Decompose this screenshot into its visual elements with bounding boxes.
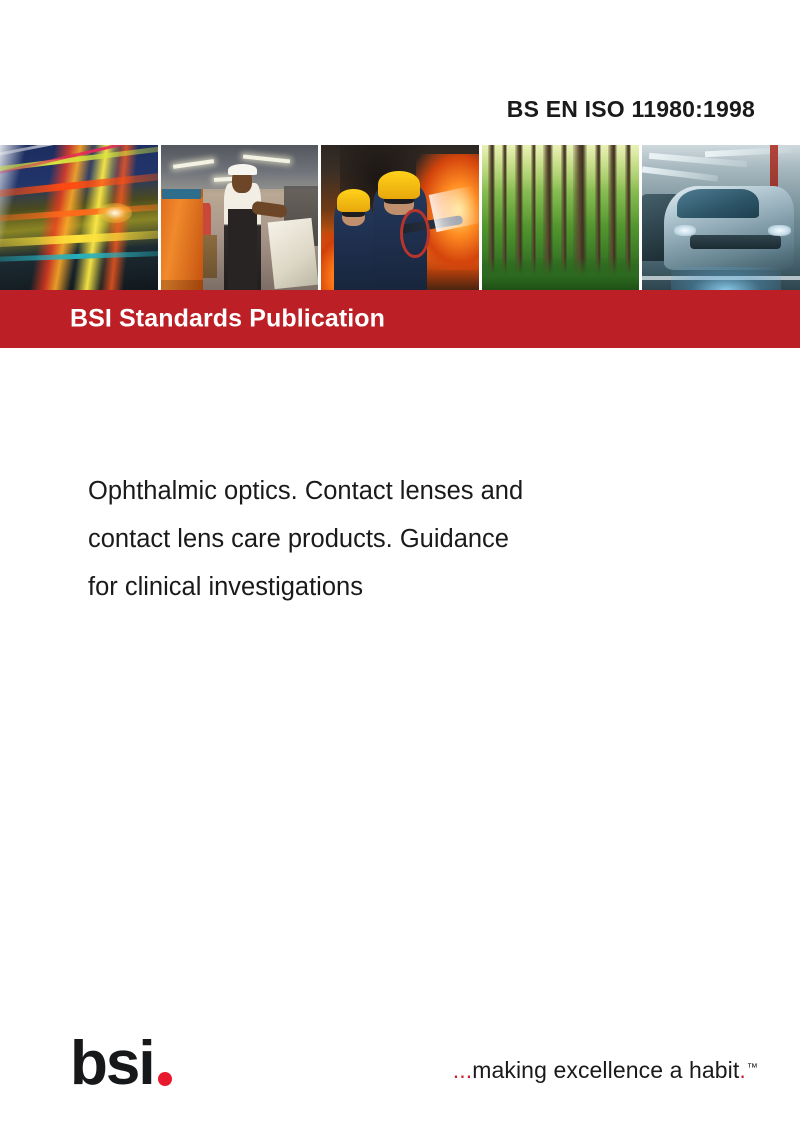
worker-cap xyxy=(228,164,256,176)
tagline-text: making excellence a habit xyxy=(472,1057,739,1083)
cardboard-box xyxy=(268,218,319,289)
bsi-logo: bsi xyxy=(70,1039,172,1090)
page-title-line: Ophthalmic optics. Contact lenses and xyxy=(88,467,688,515)
photo-panel-firefighters xyxy=(321,145,479,290)
page-title-line: contact lens care products. Guidance xyxy=(88,515,688,563)
bsi-logo-dot-icon xyxy=(158,1072,172,1086)
photo-panel-car-assembly-line xyxy=(642,145,800,290)
photo-panel-forest xyxy=(482,145,640,290)
car-headlight xyxy=(768,225,790,237)
photo-panel-warehouse-worker xyxy=(161,145,319,290)
banner-label: BSI Standards Publication xyxy=(70,305,385,334)
tagline-end-dot: . xyxy=(739,1057,746,1083)
assembly-floor-glow xyxy=(671,267,781,290)
orange-crate-stack xyxy=(161,189,204,291)
tagline-leading-dots: ... xyxy=(453,1057,472,1083)
forest-floor xyxy=(482,258,640,290)
worker-apron xyxy=(228,209,256,290)
page-title-line: for clinical investigations xyxy=(88,563,688,611)
hose-hoop xyxy=(400,209,430,259)
light-trail-streak xyxy=(0,228,158,248)
bsi-wordmark: bsi xyxy=(70,1039,154,1090)
light-trail-streak xyxy=(0,250,158,263)
factory-roof-beam xyxy=(642,167,718,182)
car-windshield xyxy=(677,189,759,218)
car-grille xyxy=(690,235,781,250)
firefighter-helmet xyxy=(378,171,421,199)
headlight-glow xyxy=(98,203,132,223)
car-headlight xyxy=(674,225,696,237)
photo-strip xyxy=(0,145,800,290)
factory-roof-beam xyxy=(705,147,793,158)
trademark-icon: ™ xyxy=(747,1062,758,1074)
light-trail-streak xyxy=(0,170,158,202)
bsi-standards-publication-banner: BSI Standards Publication xyxy=(0,290,800,348)
light-trail-streak xyxy=(0,201,158,223)
standard-number: BS EN ISO 11980:1998 xyxy=(507,96,755,123)
tagline: ...making excellence a habit.™ xyxy=(453,1057,758,1084)
firefighter-helmet xyxy=(337,189,370,212)
photo-panel-night-traffic-light-trails xyxy=(0,145,158,290)
page-title: Ophthalmic optics. Contact lenses and co… xyxy=(88,467,688,611)
